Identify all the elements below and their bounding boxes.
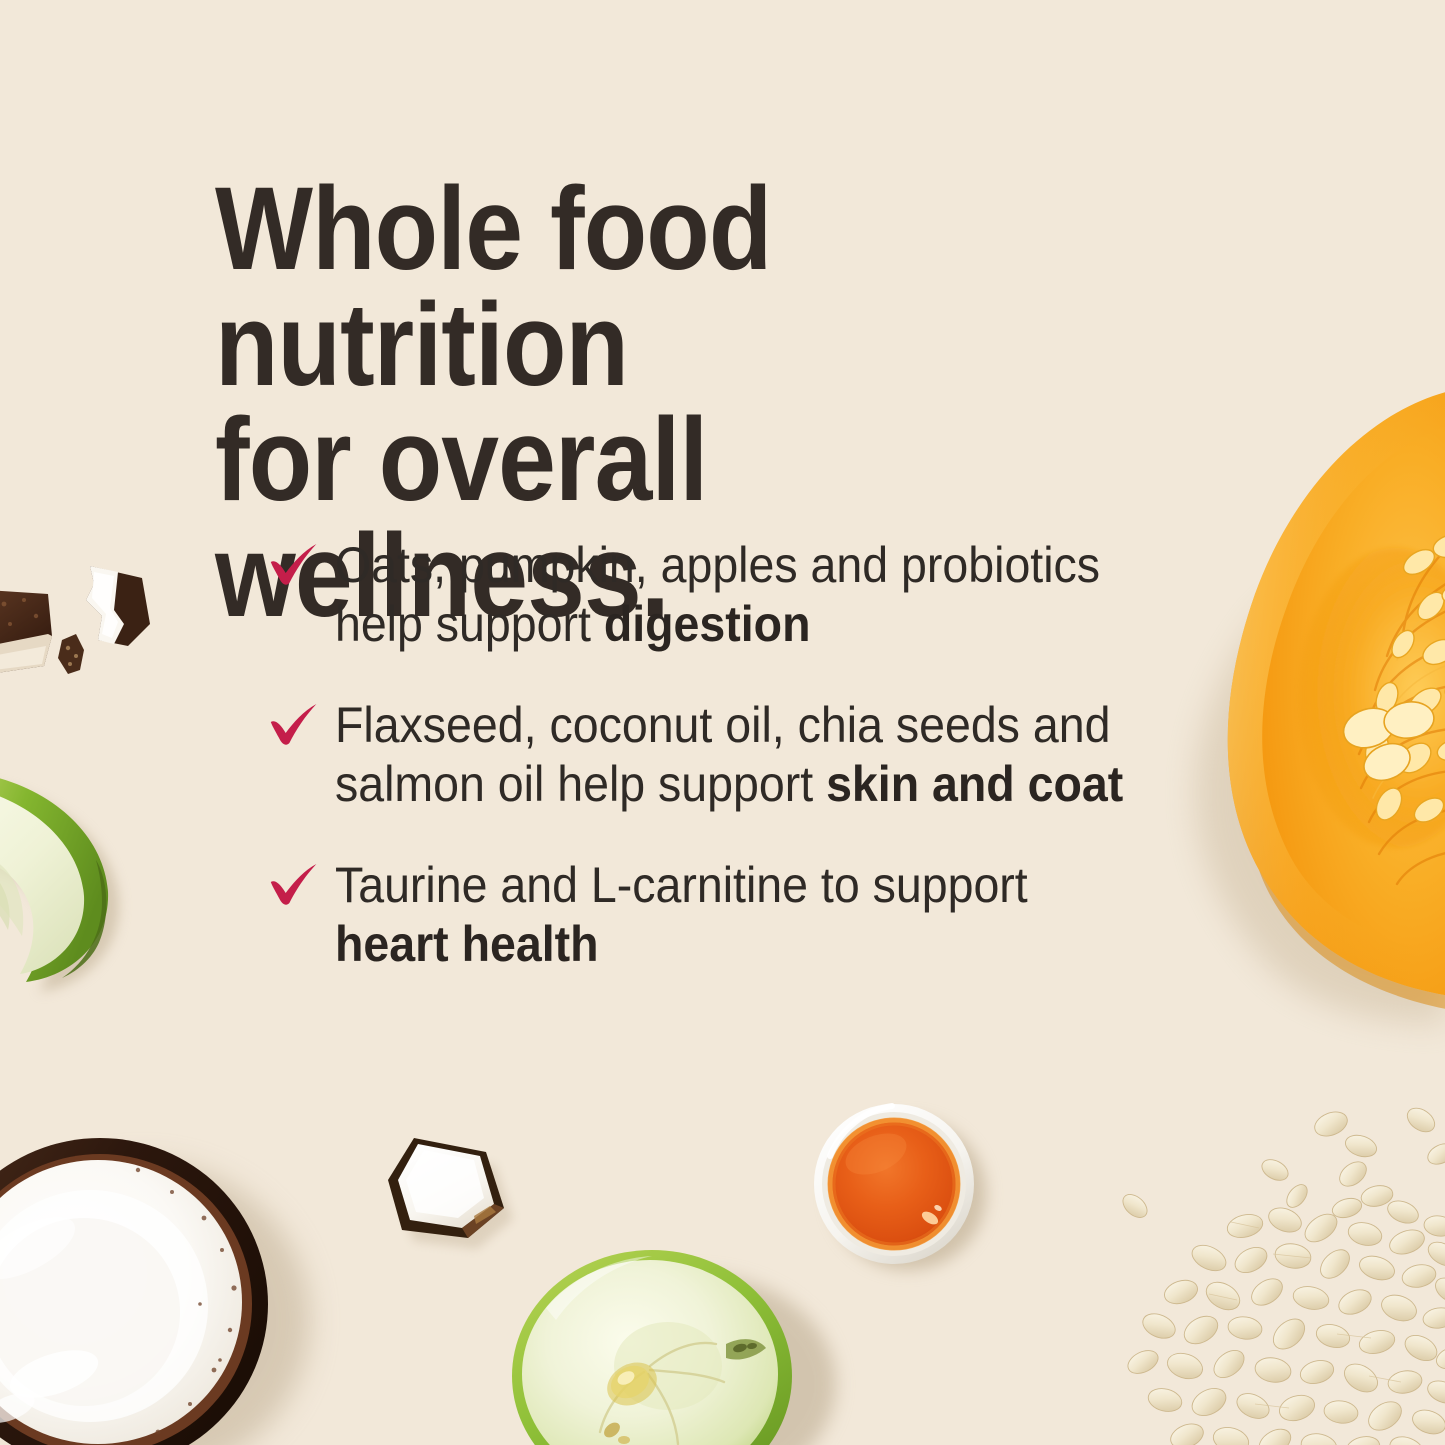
check-icon <box>268 542 320 588</box>
benefit-item: Oats, pumpkin, apples and probiotics hel… <box>268 536 1133 654</box>
coconut-chunk-image <box>378 1128 538 1264</box>
coconut-shards-image <box>0 556 166 682</box>
apple-slice-image <box>0 764 134 986</box>
rolled-oats-image <box>1125 1108 1445 1445</box>
benefits-list: Oats, pumpkin, apples and probiotics hel… <box>268 536 1198 974</box>
check-icon <box>268 702 320 748</box>
apple-half-image <box>500 1248 830 1445</box>
benefit-text: Oats, pumpkin, apples and probiotics hel… <box>335 537 1100 652</box>
pumpkin-half-image <box>1163 398 1445 998</box>
benefit-text: Flaxseed, coconut oil, chia seeds and sa… <box>335 697 1123 812</box>
check-icon <box>268 862 320 908</box>
coconut-half-image <box>0 1108 324 1445</box>
benefit-text: Taurine and L-carnitine to support heart… <box>335 857 1028 972</box>
benefit-item: Taurine and L-carnitine to support heart… <box>268 856 1133 974</box>
promo-image: Whole food nutrition for overall wellnes… <box>0 0 1445 1445</box>
salmon-oil-bowl-image <box>806 1096 988 1278</box>
benefit-item: Flaxseed, coconut oil, chia seeds and sa… <box>268 696 1133 814</box>
